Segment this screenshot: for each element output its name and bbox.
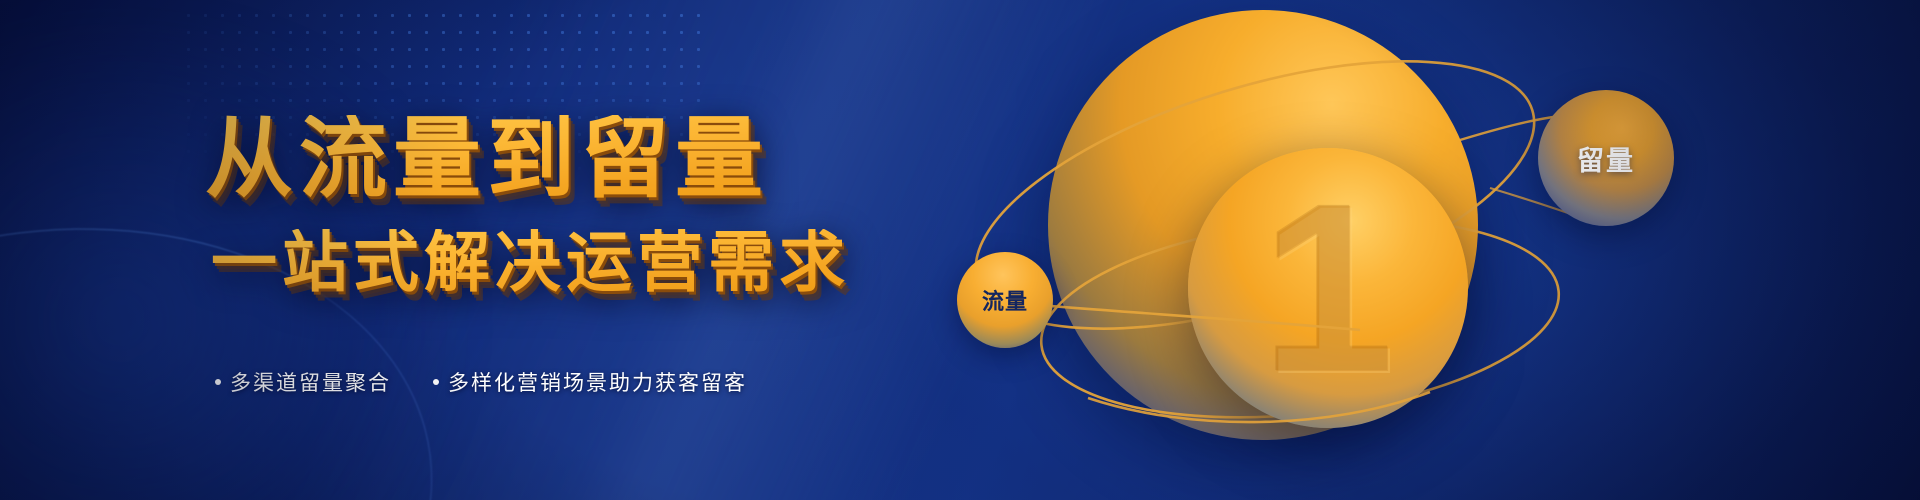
- sphere-traffic: 流量: [957, 252, 1053, 348]
- bullet-dot-icon: [433, 379, 439, 385]
- feature-bullet-label: 多样化营销场景助力获客留客: [448, 367, 747, 397]
- sphere-foreground: 1: [1188, 148, 1468, 428]
- headline-secondary: 一站式解决运营需求: [211, 229, 845, 295]
- sphere-retention: 留量: [1538, 90, 1674, 226]
- feature-bullet-item: 多渠道留量聚合: [215, 367, 391, 397]
- feature-bullet-item: 多样化营销场景助力获客留客: [433, 367, 747, 397]
- bullet-dot-icon: [215, 379, 221, 385]
- feature-bullet-label: 多渠道留量聚合: [230, 367, 391, 397]
- promo-banner: 1 流量 留量 从流量到留量 一站式解决运营需求 多渠道留量聚合 多样化营销: [0, 0, 1920, 500]
- numeral-one-watermark: 1: [1188, 148, 1468, 428]
- sphere-traffic-label: 流量: [982, 284, 1028, 316]
- feature-bullet-list: 多渠道留量聚合 多样化营销场景助力获客留客: [215, 367, 845, 397]
- headline-primary: 从流量到留量: [205, 115, 845, 203]
- copy-block: 从流量到留量 一站式解决运营需求 多渠道留量聚合 多样化营销场景助力获客留客: [205, 115, 845, 397]
- sphere-retention-label: 留量: [1577, 139, 1635, 178]
